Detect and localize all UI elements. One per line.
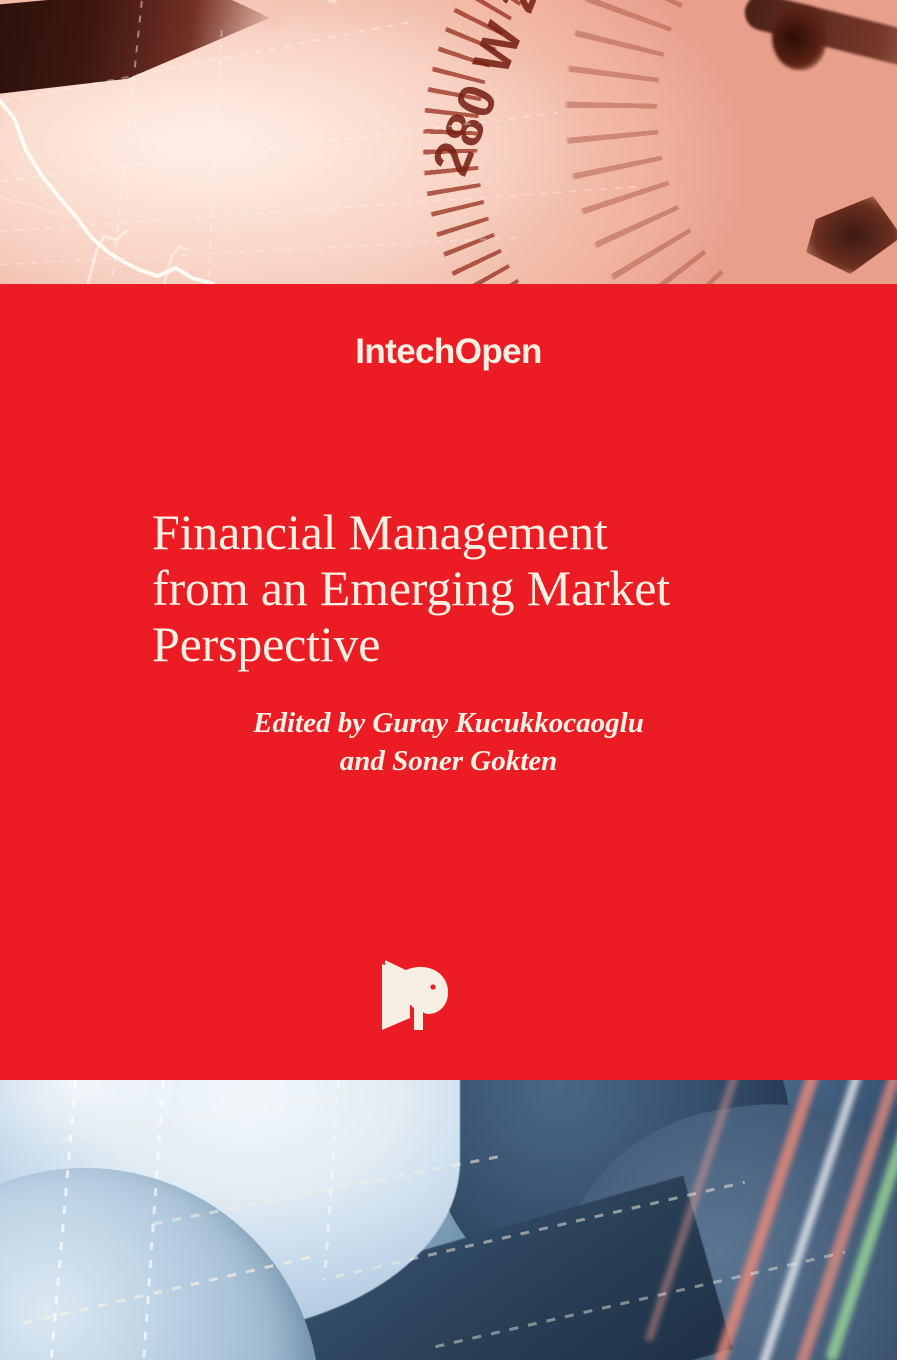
book-title: Financial Management from an Emerging Ma… [152,504,772,672]
intechopen-elephant-logo [376,956,464,1038]
title-line-2: from an Emerging Market [152,560,772,616]
bottom-photo-band [0,1080,897,1360]
red-title-band: IntechOpen Financial Management from an … [0,284,897,1080]
top-photo-band: 280W260 [0,0,897,284]
editors-credit: Edited by Guray Kucukkocaoglu and Soner … [0,704,897,780]
editors-line-2: and Soner Gokten [0,742,897,780]
stock-line-overlay [0,0,897,284]
publisher-wordmark: IntechOpen [0,332,897,372]
editors-line-1: Edited by Guray Kucukkocaoglu [0,704,897,742]
title-line-1: Financial Management [152,504,772,560]
book-cover: 280W260 IntechOpen Financial Management … [0,0,897,1360]
title-line-3: Perspective [152,616,772,672]
